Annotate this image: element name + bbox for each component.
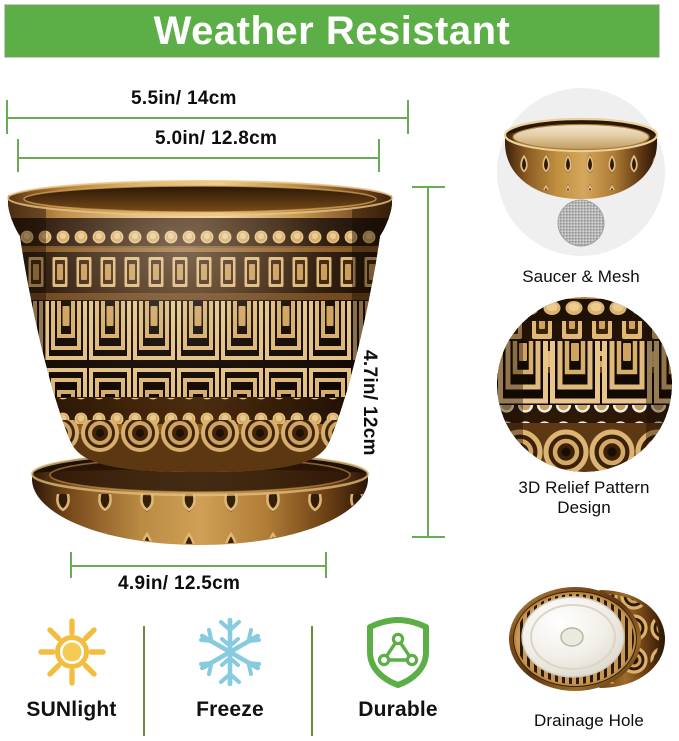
- dimension-cap-top-inner-left: [17, 139, 19, 172]
- divider-1: [143, 626, 145, 736]
- dimension-cap-top-outer-right: [407, 100, 409, 134]
- attribute-label-freeze: Freeze: [196, 698, 264, 722]
- relief-pattern-image: [497, 297, 672, 472]
- dimension-cap-base-left: [70, 552, 72, 578]
- dimension-line-base: [70, 565, 327, 567]
- feature-caption-drainage-hole: Drainage Hole: [534, 711, 644, 730]
- attribute-durable: Durable: [323, 614, 473, 722]
- divider-2: [311, 626, 313, 736]
- attribute-sunlight: SUNlight: [0, 616, 143, 722]
- sun-icon: [36, 616, 108, 688]
- dimension-line-top-outer: [6, 117, 409, 119]
- attribute-label-sunlight: SUNlight: [26, 698, 116, 722]
- dimension-cap-top-outer-left: [6, 100, 8, 134]
- feature-saucer-mesh: Saucer & Mesh: [486, 88, 676, 286]
- header-banner: Weather Resistant: [4, 4, 660, 58]
- mesh-disc-shape: [558, 200, 604, 246]
- dimension-cap-base-right: [325, 552, 327, 578]
- feature-caption-relief-pattern: 3D Relief Pattern Design: [518, 478, 649, 517]
- product-main-image: [0, 172, 400, 550]
- infographic-page: Weather Resistant 5.5in/ 14cm 5.0in/ 12.…: [0, 0, 679, 741]
- saucer-mesh-image: [491, 88, 671, 261]
- dimension-label-base: 4.9in/ 12.5cm: [118, 573, 240, 595]
- dimension-line-top-inner: [17, 157, 380, 159]
- feature-caption-relief-line2: Design: [518, 498, 649, 518]
- dimension-cap-height-bottom: [412, 536, 445, 538]
- snowflake-icon: [194, 616, 266, 688]
- shield-icon: [360, 614, 436, 690]
- pot-body-shape: [0, 181, 400, 478]
- dimension-cap-height-top: [412, 186, 445, 188]
- feature-caption-saucer-mesh: Saucer & Mesh: [522, 267, 640, 286]
- feature-caption-relief-line1: 3D Relief Pattern: [518, 478, 649, 498]
- drainage-hole-image: [499, 580, 679, 705]
- feature-relief-pattern: 3D Relief Pattern Design: [489, 297, 679, 517]
- dimension-label-top-inner: 5.0in/ 12.8cm: [155, 128, 277, 150]
- dimension-label-top-outer: 5.5in/ 14cm: [131, 88, 237, 110]
- dimension-line-height: [427, 186, 429, 538]
- feature-drainage-hole: Drainage Hole: [494, 580, 679, 730]
- dimension-cap-top-inner-right: [378, 139, 380, 172]
- attribute-label-durable: Durable: [358, 698, 438, 722]
- attribute-freeze: Freeze: [155, 616, 305, 722]
- page-title: Weather Resistant: [154, 11, 511, 51]
